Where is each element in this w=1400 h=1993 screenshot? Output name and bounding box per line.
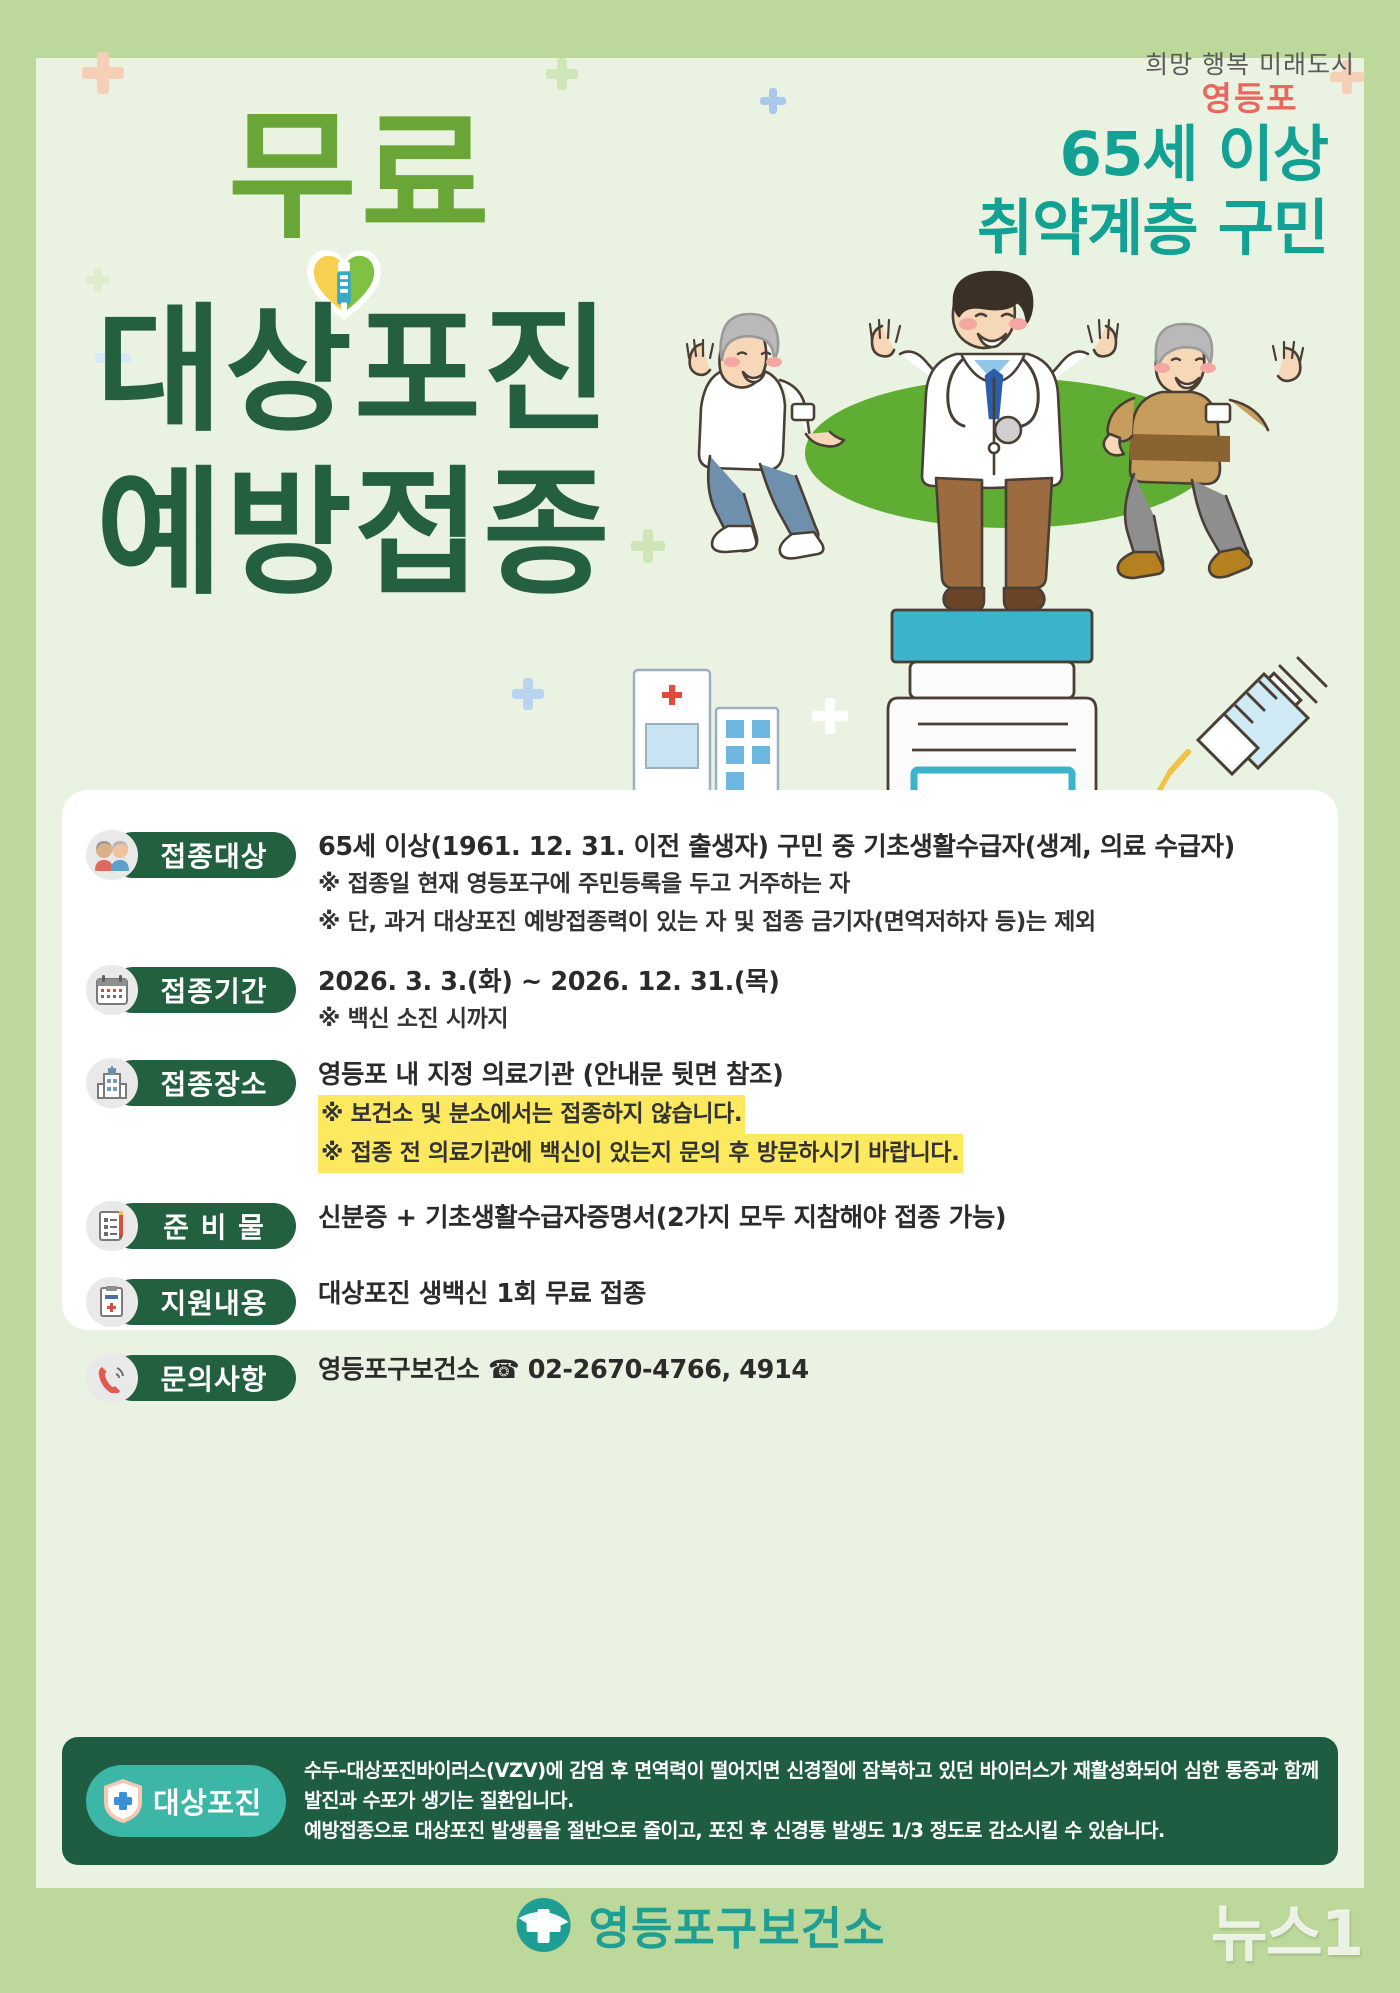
- news-watermark: 뉴스1: [1211, 1883, 1362, 1973]
- row-content: 대상포진 생백신 1회 무료 접종: [318, 1275, 1338, 1313]
- row-main-line: 2026. 3. 3.(화) ~ 2026. 12. 31.(목): [318, 963, 1338, 1001]
- row-main-line: 신분증 + 기초생활수급자증명서(2가지 모두 지참해야 접종 가능): [318, 1199, 1338, 1237]
- phone-icon: [86, 1353, 138, 1403]
- info-row-documents: 준 비 물 신분증 + 기초생활수급자증명서(2가지 모두 지참해야 접종 가능…: [62, 1199, 1338, 1249]
- row-content: 신분증 + 기초생활수급자증명서(2가지 모두 지참해야 접종 가능): [318, 1199, 1338, 1237]
- row-content: 2026. 3. 3.(화) ~ 2026. 12. 31.(목) ※ 백신 소…: [318, 963, 1338, 1039]
- row-label-wrap: 접종기간: [86, 967, 318, 1013]
- highlighted-note: ※ 보건소 및 분소에서는 접종하지 않습니다.: [318, 1095, 745, 1134]
- row-note: ※ 접종일 현재 영등포구에 주민등록을 두고 거주하는 자: [318, 866, 1338, 903]
- row-main-line: 영등포구보건소 ☎ 02-2670-4766, 4914: [318, 1351, 1338, 1389]
- row-note: ※ 보건소 및 분소에서는 접종하지 않습니다.: [318, 1095, 1338, 1134]
- shield-cross-icon: [102, 1777, 144, 1825]
- row-label-wrap: 준 비 물: [86, 1203, 318, 1249]
- medical-record-icon: [86, 1277, 138, 1327]
- hospital-building-icon: [616, 652, 796, 797]
- calendar-icon: [86, 965, 138, 1015]
- target-line-2: 취약계층 구민: [977, 192, 1328, 266]
- elderly-couple-icon: [86, 830, 138, 880]
- row-content: 영등포구보건소 ☎ 02-2670-4766, 4914: [318, 1351, 1338, 1389]
- title-main-line-2: 예방접종: [96, 453, 612, 616]
- row-label-wrap: 접종장소: [86, 1060, 318, 1106]
- poster-canvas: 희망 행복 미래도시 영등포 65세 이상 취약계층 구민 무료 대상포진 예방…: [0, 0, 1400, 1993]
- footer-logo: 영등포구보건소: [515, 1892, 886, 1957]
- shingles-badge: 대상포진: [86, 1765, 286, 1837]
- highlighted-note: ※ 접종 전 의료기관에 백신이 있는지 문의 후 방문하시기 바랍니다.: [318, 1134, 963, 1173]
- target-audience-heading: 65세 이상 취약계층 구민: [977, 118, 1328, 267]
- district-slogan: 희망 행복 미래도시: [1145, 52, 1355, 77]
- title-main-line-1: 대상포진: [96, 290, 612, 453]
- row-content: 65세 이상(1961. 12. 31. 이전 출생자) 구민 중 기초생활수급…: [318, 828, 1338, 941]
- shingles-desc-line-3: 예방접종으로 대상포진 발생률을 절반으로 줄이고, 포진 후 신경통 발생도 …: [304, 1816, 1338, 1846]
- info-row-target: 접종대상 65세 이상(1961. 12. 31. 이전 출생자) 구민 중 기…: [62, 828, 1338, 941]
- shingles-description: 수두-대상포진바이러스(VZV)에 감염 후 면역력이 떨어지면 신경절에 잠복…: [286, 1756, 1338, 1846]
- health-center-cross-icon: [515, 1896, 573, 1954]
- shingles-desc-line-2: 발진과 수포가 생기는 질환입니다.: [304, 1786, 1338, 1816]
- info-row-period: 접종기간 2026. 3. 3.(화) ~ 2026. 12. 31.(목) ※…: [62, 963, 1338, 1039]
- hospital-icon: [86, 1058, 138, 1108]
- district-logo: 희망 행복 미래도시 영등포: [1145, 52, 1355, 115]
- shingles-desc-line-1: 수두-대상포진바이러스(VZV)에 감염 후 면역력이 떨어지면 신경절에 잠복…: [304, 1756, 1338, 1786]
- info-rows: 접종대상 65세 이상(1961. 12. 31. 이전 출생자) 구민 중 기…: [62, 800, 1338, 1401]
- footer-org-name: 영등포구보건소: [589, 1892, 886, 1957]
- info-row-contact: 문의사항 영등포구보건소 ☎ 02-2670-4766, 4914: [62, 1351, 1338, 1401]
- row-note: ※ 백신 소진 시까지: [318, 1001, 1338, 1038]
- title-free: 무료: [228, 108, 494, 248]
- row-note: ※ 단, 과거 대상포진 예방접종력이 있는 자 및 접종 금기자(면역저하자 …: [318, 904, 1338, 941]
- row-main-line: 대상포진 생백신 1회 무료 접종: [318, 1275, 1338, 1313]
- shingles-badge-label: 대상포진: [153, 1780, 262, 1822]
- row-label-wrap: 접종대상: [86, 832, 318, 878]
- title-main: 대상포진 예방접종: [96, 290, 612, 616]
- info-row-support: 지원내용 대상포진 생백신 1회 무료 접종: [62, 1275, 1338, 1325]
- row-main-line: 영등포 내 지정 의료기관 (안내문 뒷면 참조): [318, 1056, 1338, 1094]
- target-line-1: 65세 이상: [977, 118, 1328, 192]
- district-name: 영등포: [1145, 82, 1355, 115]
- row-main-line: 65세 이상(1961. 12. 31. 이전 출생자) 구민 중 기초생활수급…: [318, 828, 1338, 866]
- row-content: 영등포 내 지정 의료기관 (안내문 뒷면 참조) ※ 보건소 및 분소에서는 …: [318, 1056, 1338, 1173]
- info-row-place: 접종장소 영등포 내 지정 의료기관 (안내문 뒷면 참조) ※ 보건소 및 분…: [62, 1056, 1338, 1173]
- row-label-wrap: 문의사항: [86, 1355, 318, 1401]
- clipboard-pencil-icon: [86, 1201, 138, 1251]
- row-note: ※ 접종 전 의료기관에 백신이 있는지 문의 후 방문하시기 바랍니다.: [318, 1134, 1338, 1173]
- row-label-wrap: 지원내용: [86, 1279, 318, 1325]
- shingles-info-box: 대상포진 수두-대상포진바이러스(VZV)에 감염 후 면역력이 떨어지면 신경…: [62, 1737, 1338, 1865]
